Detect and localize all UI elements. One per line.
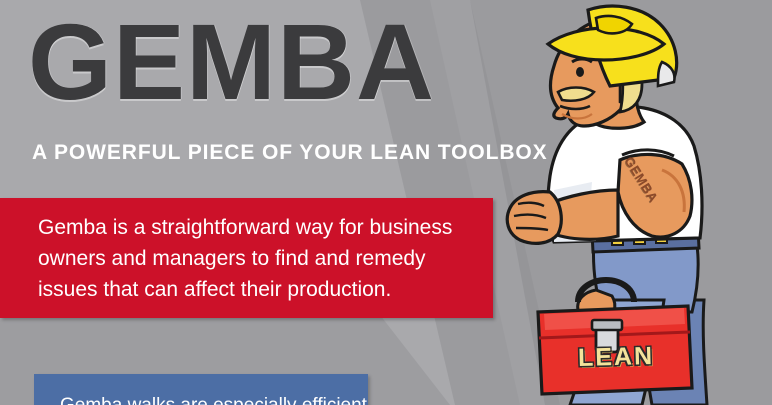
page-title: GEMBA (28, 8, 435, 116)
construction-worker-illustration (492, 0, 772, 405)
infographic-poster: GEMBA LEAN GEMBA A POWERFUL PIECE OF YOU… (0, 0, 772, 405)
page-subtitle: A POWERFUL PIECE OF YOUR LEAN TOOLBOX (32, 141, 548, 165)
worker-fist (507, 192, 561, 244)
red-callout-text: Gemba is a straightforward way for busin… (38, 212, 469, 305)
red-callout-box: Gemba is a straightforward way for busin… (0, 198, 493, 318)
blue-callout-text: Gemba walks are especially efficient (60, 392, 354, 405)
blue-callout-box: Gemba walks are especially efficient (34, 374, 368, 405)
toolbox-latch-top (592, 320, 622, 330)
worker-eye (576, 67, 584, 77)
